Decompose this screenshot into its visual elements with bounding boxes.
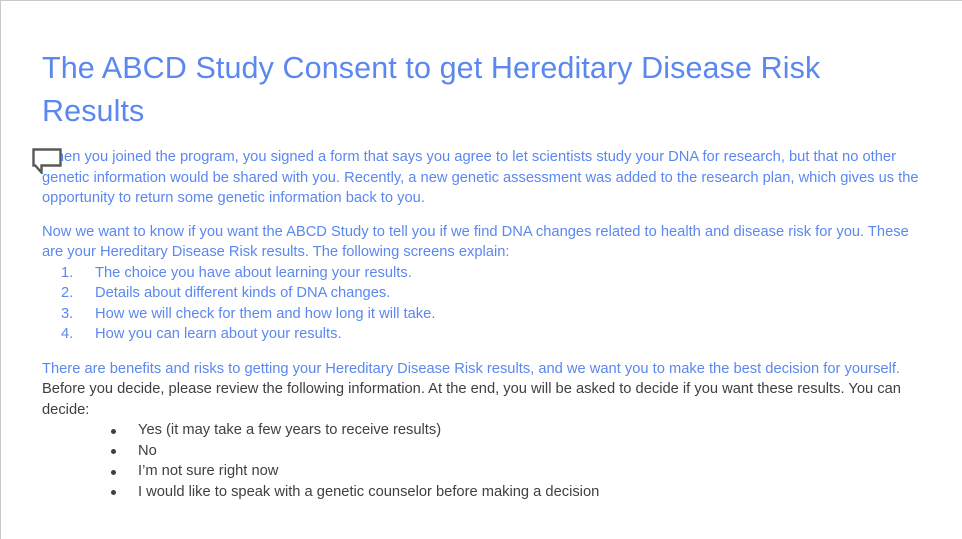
list-item-label: I would like to speak with a genetic cou…: [138, 484, 599, 500]
list-item: Yes (it may take a few years to receive …: [42, 420, 922, 441]
list-item-number: 1.: [61, 263, 73, 284]
paragraph-intro: When you joined the program, you signed …: [42, 147, 922, 209]
choices-list: Yes (it may take a few years to receive …: [42, 420, 922, 502]
list-item-label: How we will check for them and how long …: [95, 306, 435, 322]
paragraph-benefits: There are benefits and risks to getting …: [42, 359, 922, 421]
page-title: The ABCD Study Consent to get Hereditary…: [42, 47, 922, 133]
list-item: 2. Details about different kinds of DNA …: [42, 283, 922, 304]
paragraph-benefits-rest: Before you decide, please review the fol…: [42, 381, 901, 418]
spacer: [42, 345, 922, 359]
list-item-label: Yes (it may take a few years to receive …: [138, 422, 441, 438]
list-item: No: [42, 441, 922, 462]
spacer: [42, 133, 922, 147]
document-page: The ABCD Study Consent to get Hereditary…: [0, 0, 962, 539]
bullet-icon: [111, 429, 116, 434]
list-item: I’m not sure right now: [42, 461, 922, 482]
list-item-label: Details about different kinds of DNA cha…: [95, 285, 390, 301]
comment-bubble-icon[interactable]: [32, 148, 62, 174]
list-item-number: 4.: [61, 324, 73, 345]
spacer: [42, 209, 922, 222]
list-item: 3. How we will check for them and how lo…: [42, 304, 922, 325]
explanation-list: 1. The choice you have about learning yo…: [42, 263, 922, 345]
paragraph-ask: Now we want to know if you want the ABCD…: [42, 222, 922, 263]
list-item-label: How you can learn about your results.: [95, 326, 342, 342]
list-item-number: 3.: [61, 304, 73, 325]
list-item-number: 2.: [61, 283, 73, 304]
bullet-icon: [111, 449, 116, 454]
list-item-label: The choice you have about learning your …: [95, 265, 412, 281]
list-item: I would like to speak with a genetic cou…: [42, 482, 922, 503]
list-item: 1. The choice you have about learning yo…: [42, 263, 922, 284]
list-item-label: I’m not sure right now: [138, 463, 278, 479]
list-item-label: No: [138, 443, 157, 459]
list-item: 4. How you can learn about your results.: [42, 324, 922, 345]
bullet-icon: [111, 490, 116, 495]
paragraph-benefits-highlight: There are benefits and risks to getting …: [42, 361, 900, 377]
document-content: The ABCD Study Consent to get Hereditary…: [42, 47, 922, 502]
bullet-icon: [111, 470, 116, 475]
